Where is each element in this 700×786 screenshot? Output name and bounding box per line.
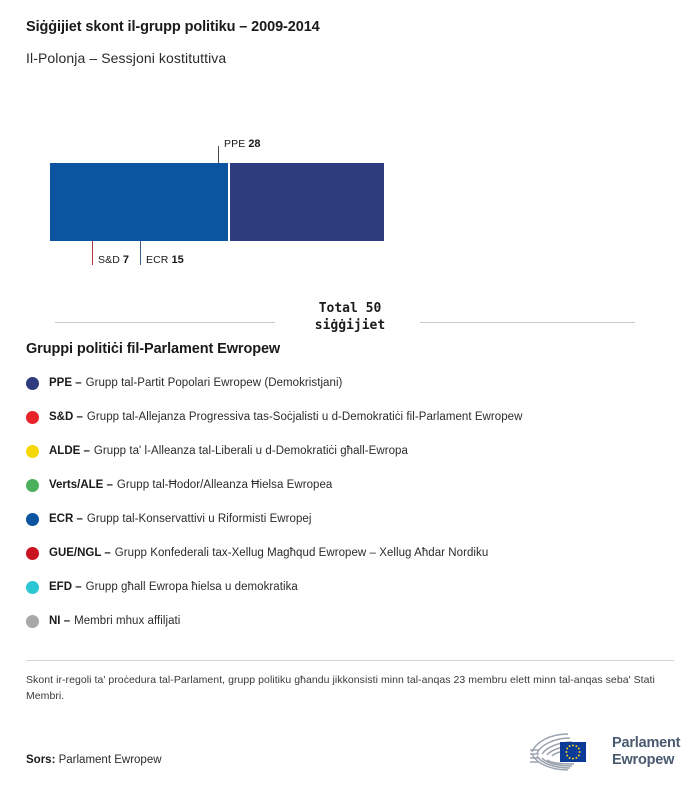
- legend-color-dot-icon: [26, 411, 39, 424]
- legend-item[interactable]: EFD –Grupp għall Ewropa ħielsa u demokra…: [26, 576, 676, 598]
- legend-item-abbr: ALDE –: [49, 445, 90, 457]
- logo-line-1: Parlament: [612, 735, 680, 752]
- legend-item-desc: Membri mhux affiljati: [74, 615, 180, 627]
- callout-tick-s-d: [92, 241, 93, 265]
- legend-item-desc: Grupp tal-Konservattivi u Riformisti Ewr…: [87, 513, 312, 525]
- legend-list: PPE –Grupp tal-Partit Popolari Ewropew (…: [26, 372, 676, 632]
- legend-item[interactable]: S&D –Grupp tal-Allejanza Progressiva tas…: [26, 406, 676, 428]
- bar-segment-ecr[interactable]: [50, 163, 230, 241]
- legend-color-dot-icon: [26, 445, 39, 458]
- callout-label-ecr: ECR15: [146, 255, 184, 266]
- source-label: Sors:: [26, 754, 55, 766]
- legend-color-dot-icon: [26, 377, 39, 390]
- legend-item[interactable]: NI –Membri mhux affiljati: [26, 610, 676, 632]
- legend-item-abbr: EFD –: [49, 581, 82, 593]
- legend-item-abbr: Verts/ALE –: [49, 479, 113, 491]
- callout-tick-ppe: [218, 146, 219, 163]
- legend-item-abbr: S&D –: [49, 411, 83, 423]
- total-line-1: Total 50: [0, 300, 700, 317]
- total-line-2: siġġijiet: [0, 317, 700, 334]
- legend-item-abbr: PPE –: [49, 377, 82, 389]
- legend-item-abbr: NI –: [49, 615, 70, 627]
- header: Siġġijiet skont il-grupp politiku – 2009…: [26, 18, 676, 66]
- legend-item[interactable]: ECR –Grupp tal-Konservattivi u Riformist…: [26, 508, 676, 530]
- total-seats: Total 50 siġġijiet: [0, 300, 700, 334]
- callout-tick-ecr: [140, 241, 141, 265]
- legend-item-abbr: GUE/NGL –: [49, 547, 111, 559]
- legend-color-dot-icon: [26, 479, 39, 492]
- page-title: Siġġijiet skont il-grupp politiku – 2009…: [26, 18, 676, 37]
- legend-heading: Gruppi politiċi fil-Parlament Ewropew: [26, 341, 676, 357]
- infographic-page: Siġġijiet skont il-grupp politiku – 2009…: [0, 0, 700, 786]
- logo-text: Parlament Ewropew: [612, 735, 680, 769]
- legend-item-desc: Grupp għall Ewropa ħielsa u demokratika: [86, 581, 298, 593]
- footnote-divider: [26, 660, 674, 661]
- legend-item[interactable]: GUE/NGL –Grupp Konfederali tax-Xellug Ma…: [26, 542, 676, 564]
- legend-item-desc: Grupp tal-Allejanza Progressiva tas-Soċj…: [87, 411, 523, 423]
- legend-item[interactable]: ALDE –Grupp ta' l-Alleanza tal-Liberali …: [26, 440, 676, 462]
- legend-color-dot-icon: [26, 513, 39, 526]
- legend-color-dot-icon: [26, 581, 39, 594]
- source-line: Sors: Parlament Ewropew: [26, 754, 162, 766]
- legend-item-abbr: ECR –: [49, 513, 83, 525]
- seats-chart: S&D7PPE28ECR15: [0, 140, 700, 285]
- callout-label-ppe: PPE28: [224, 139, 261, 150]
- legend-item-desc: Grupp tal-Partit Popolari Ewropew (Demok…: [86, 377, 343, 389]
- total-band: Total 50 siġġijiet: [0, 300, 700, 344]
- legend-color-dot-icon: [26, 547, 39, 560]
- legend-item-desc: Grupp Konfederali tax-Xellug Magħqud Ewr…: [115, 547, 488, 559]
- stacked-bar: S&D7PPE28ECR15: [50, 163, 650, 241]
- legend-item[interactable]: Verts/ALE –Grupp tal-Ħodor/Alleanza Ħiel…: [26, 474, 676, 496]
- legend-item-desc: Grupp ta' l-Alleanza tal-Liberali u d-De…: [94, 445, 408, 457]
- legend-color-dot-icon: [26, 615, 39, 628]
- source-value: Parlament Ewropew: [59, 754, 162, 766]
- european-parliament-logo-icon: [528, 730, 606, 774]
- legend-item[interactable]: PPE –Grupp tal-Partit Popolari Ewropew (…: [26, 372, 676, 394]
- ep-logo: Parlament Ewropew: [528, 729, 676, 775]
- legend: Gruppi politiċi fil-Parlament Ewropew PP…: [26, 341, 676, 644]
- footnote: Skont ir-regoli ta' proċedura tal-Parlam…: [26, 673, 676, 705]
- page-subtitle: Il-Polonja – Sessjoni kostituttiva: [26, 50, 676, 66]
- callout-label-s-d: S&D7: [98, 255, 129, 266]
- logo-line-2: Ewropew: [612, 752, 680, 769]
- legend-item-desc: Grupp tal-Ħodor/Alleanza Ħielsa Ewropea: [117, 479, 332, 491]
